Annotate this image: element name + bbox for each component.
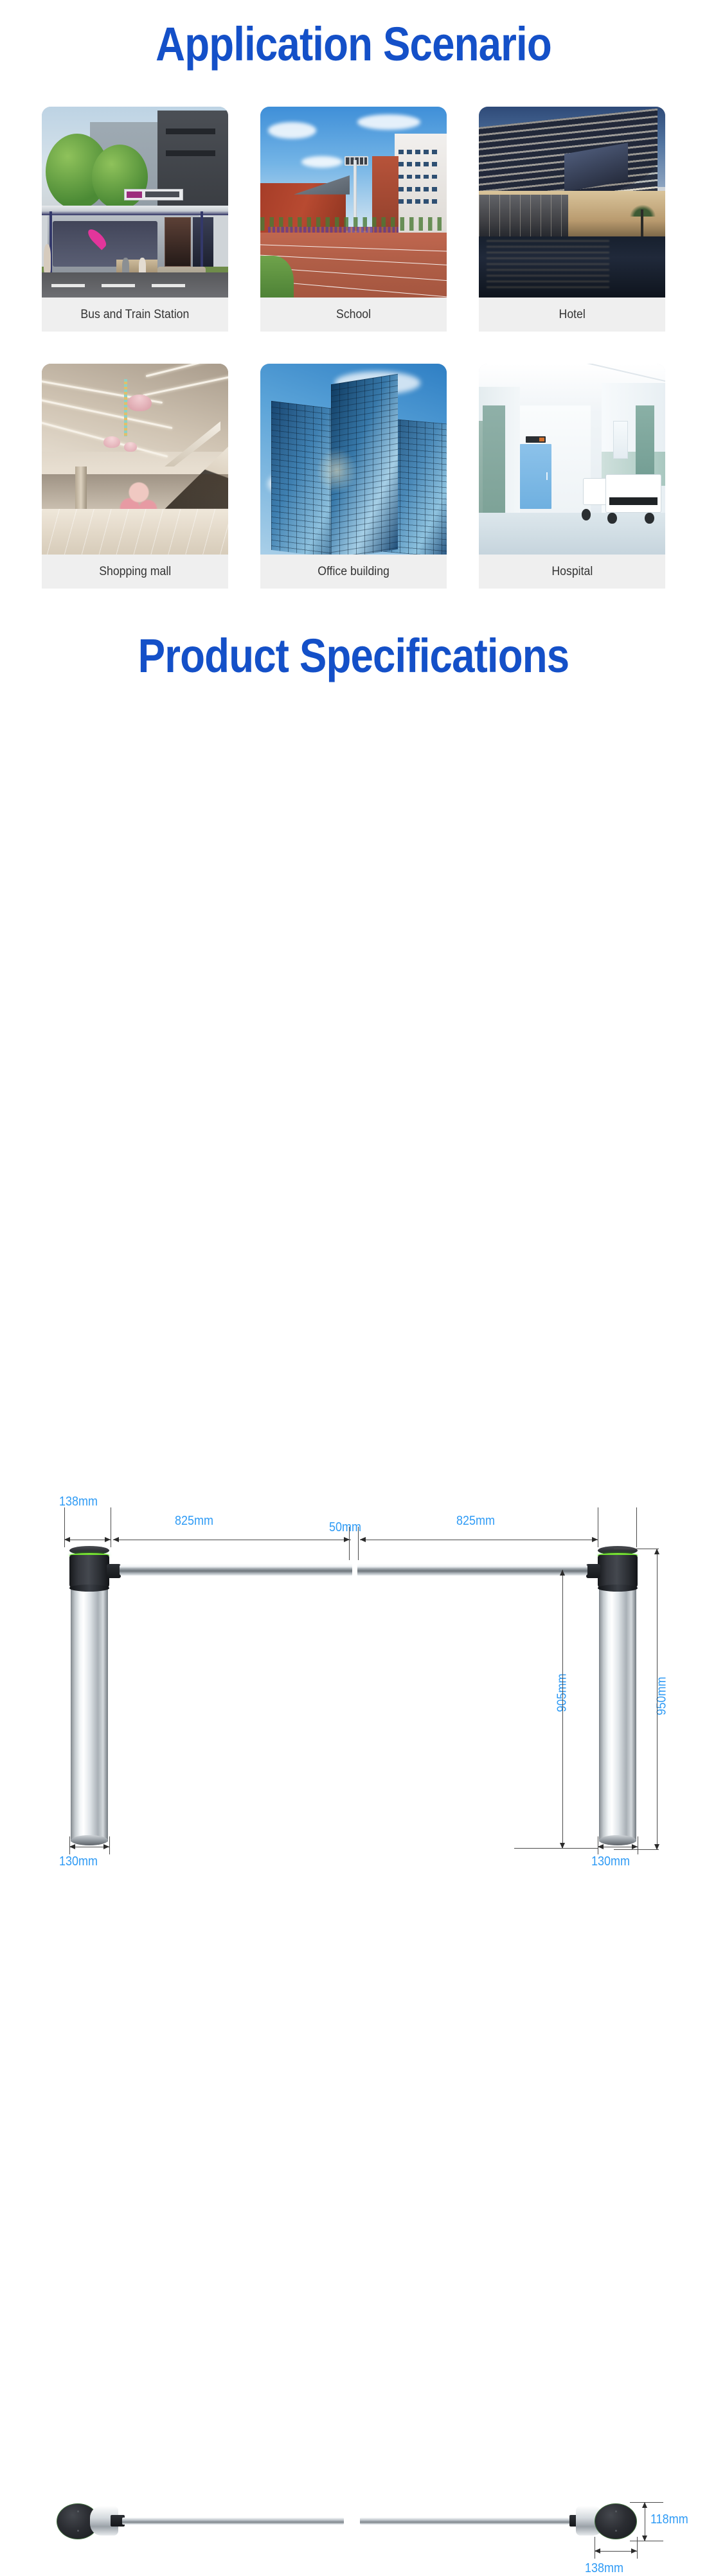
scenario-caption-text: Hotel xyxy=(559,308,585,322)
arrow-up xyxy=(642,2502,647,2508)
dim-line-825-right xyxy=(360,1540,598,1540)
arrow-right xyxy=(632,1844,638,1849)
arrow-left xyxy=(113,1537,119,1542)
ext-line xyxy=(657,1549,658,1849)
front-view-drawing: 138mm 825mm 50mm 825mm 905mm 950mm 130mm… xyxy=(0,680,707,1168)
scenario-card-office-building[interactable]: Office building xyxy=(260,364,447,589)
pillar-foot xyxy=(599,1835,636,1845)
arrow-right xyxy=(631,2548,637,2554)
ext-line xyxy=(562,1570,563,1848)
ext-line xyxy=(645,2502,645,2541)
scenario-card-bus-and-train-station[interactable]: Bus and Train Station xyxy=(42,107,228,332)
arrow-left xyxy=(598,1844,604,1849)
arrow-right xyxy=(344,1537,350,1542)
scenario-card-school[interactable]: School xyxy=(260,107,447,332)
scenario-caption-text: Office building xyxy=(318,565,389,579)
scenario-caption: Bus and Train Station xyxy=(42,298,228,332)
arrow-right xyxy=(103,1844,109,1849)
arrow-right xyxy=(592,1537,598,1542)
scenario-caption-text: Hospital xyxy=(551,565,593,579)
arrow-left xyxy=(595,2548,600,2554)
dim-line-base-905 xyxy=(514,1848,598,1849)
dim-label-pillar-width-left: 138mm xyxy=(59,1495,98,1509)
turnstile-pillar-left xyxy=(69,1546,109,1848)
page-title-application-scenario: Application Scenario xyxy=(49,0,658,68)
arrow-down xyxy=(642,2536,647,2541)
ext-line xyxy=(638,1836,638,1854)
gate-arm-left xyxy=(120,1565,352,1576)
page-title-product-specifications: Product Specifications xyxy=(49,628,658,680)
ext-line xyxy=(598,1507,598,1547)
scenario-caption-text: School xyxy=(336,308,371,322)
ext-line xyxy=(595,2537,595,2559)
arrow-left xyxy=(64,1537,70,1542)
arrow-left xyxy=(360,1537,366,1542)
ext-line xyxy=(109,1836,110,1854)
ext-line xyxy=(637,2537,638,2559)
dim-label-arm-length-right: 825mm xyxy=(456,1514,495,1529)
arrow-up xyxy=(654,1549,659,1554)
scenario-card-shopping-mall[interactable]: Shopping mall xyxy=(42,364,228,589)
arrow-left xyxy=(69,1844,75,1849)
dim-line-825-left xyxy=(113,1540,351,1540)
scenario-caption-text: Shopping mall xyxy=(99,565,171,579)
top-view-drawing: 118mm 138mm xyxy=(0,1168,707,1361)
hotel-photo xyxy=(479,107,665,298)
dim-line-bottom-950 xyxy=(614,1849,659,1850)
bus-station-photo xyxy=(42,107,228,298)
pillar-body xyxy=(71,1585,108,1842)
scenario-caption: Shopping mall xyxy=(42,555,228,589)
ext-line xyxy=(349,1527,350,1560)
scenario-card-hotel[interactable]: Hotel xyxy=(479,107,665,332)
scenario-caption: Office building xyxy=(260,555,447,589)
top-view-arm-right xyxy=(360,2518,572,2525)
dim-line-top-950 xyxy=(614,1549,659,1549)
scenario-card-grid: Bus and Train Station xyxy=(22,107,685,589)
ext-line xyxy=(111,1507,111,1547)
top-view-head-right xyxy=(595,2503,637,2539)
dim-label-head-width: 138mm xyxy=(585,2561,623,2576)
dim-line-138 xyxy=(64,1540,111,1540)
scenario-caption: School xyxy=(260,298,447,332)
dim-label-arm-length-left: 825mm xyxy=(175,1514,213,1529)
scenario-card-hospital[interactable]: Hospital xyxy=(479,364,665,589)
hospital-photo xyxy=(479,364,665,555)
scenario-caption: Hospital xyxy=(479,555,665,589)
office-building-photo xyxy=(260,364,447,555)
school-photo xyxy=(260,107,447,298)
gate-arm-right xyxy=(357,1565,587,1576)
ext-line xyxy=(636,1507,637,1547)
dim-label-head-depth: 118mm xyxy=(650,2512,688,2527)
scenario-caption-text: Bus and Train Station xyxy=(81,308,190,322)
scenario-caption: Hotel xyxy=(479,298,665,332)
pillar-head xyxy=(69,1555,109,1588)
dim-label-base-diameter-right: 130mm xyxy=(591,1854,630,1869)
pillar-head xyxy=(598,1555,638,1588)
dim-label-center-gap: 50mm xyxy=(329,1520,361,1535)
arrow-up xyxy=(560,1570,565,1576)
turnstile-pillar-right xyxy=(598,1546,638,1848)
dim-label-base-diameter-left: 130mm xyxy=(59,1854,98,1869)
pillar-neck-left xyxy=(107,1564,121,1578)
pillar-body xyxy=(599,1585,636,1842)
pillar-foot xyxy=(71,1835,108,1845)
top-view-arm-left xyxy=(122,2518,344,2525)
pillar-neck-right xyxy=(586,1564,600,1578)
ext-line xyxy=(358,1527,359,1560)
shopping-mall-photo xyxy=(42,364,228,555)
arrow-right xyxy=(105,1537,111,1542)
